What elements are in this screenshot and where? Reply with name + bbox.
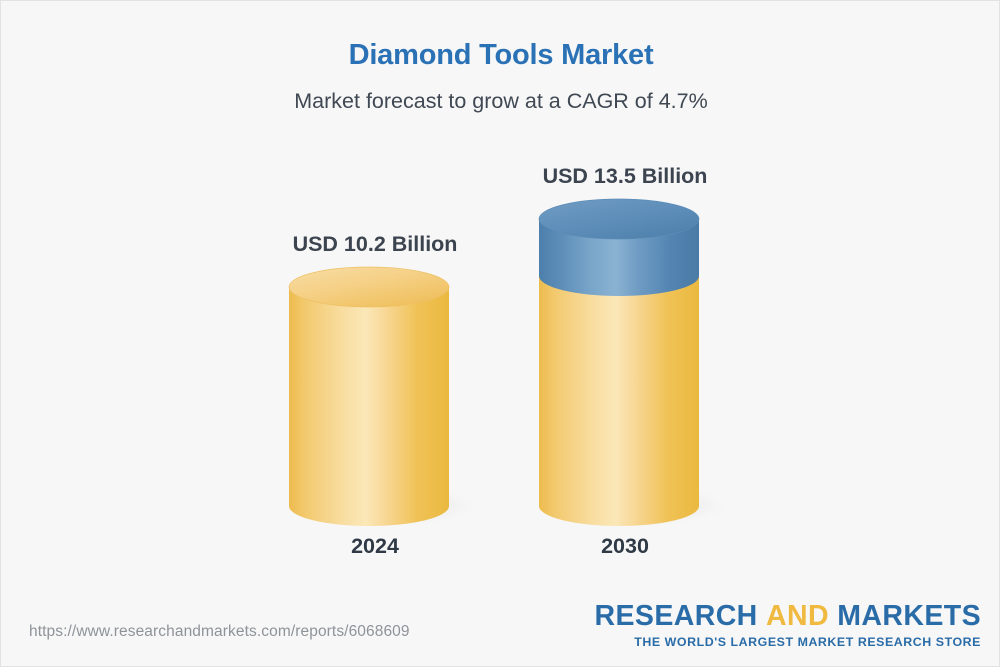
bar-value-label-2024: USD 10.2 Billion: [245, 232, 505, 257]
cylinder-bar-2024[interactable]: [283, 259, 473, 534]
bar-value-label-2030: USD 13.5 Billion: [495, 164, 755, 189]
cylinder-top-2030: [539, 199, 699, 239]
brand-tagline: THE WORLD'S LARGEST MARKET RESEARCH STOR…: [595, 635, 981, 649]
brand-word-markets: MARKETS: [837, 600, 981, 632]
chart-plot-area: USD 10.2 Billion: [1, 1, 1000, 601]
infographic-canvas: Diamond Tools Market Market forecast to …: [0, 0, 1000, 667]
bar-category-label-2030: 2030: [495, 534, 755, 559]
cylinder-bar-2030[interactable]: [533, 191, 723, 534]
brand-logo[interactable]: RESEARCH AND MARKETS THE WORLD'S LARGEST…: [595, 602, 981, 649]
cylinder-body-2024: [289, 287, 449, 526]
brand-word-and: AND: [766, 600, 829, 632]
brand-word-research: RESEARCH: [595, 600, 758, 632]
brand-name: RESEARCH AND MARKETS: [595, 602, 981, 632]
cylinder-top-2024: [289, 267, 449, 307]
bar-category-label-2024: 2024: [245, 534, 505, 559]
source-url[interactable]: https://www.researchandmarkets.com/repor…: [29, 623, 410, 641]
